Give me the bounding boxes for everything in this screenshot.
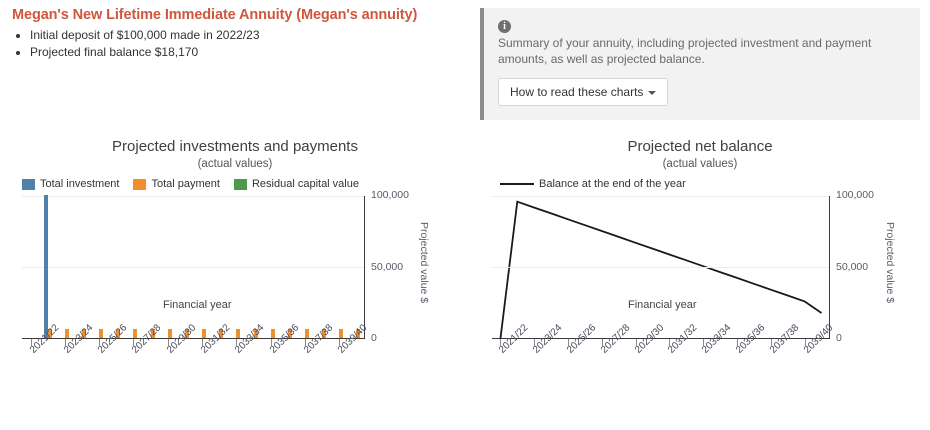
bar[interactable] bbox=[305, 329, 309, 338]
x-axis-tick-labels: 2021/222023/242025/262027/282029/302031/… bbox=[22, 346, 365, 388]
legend-swatch-icon bbox=[234, 179, 247, 190]
info-panel-text: Summary of your annuity, including proje… bbox=[498, 35, 900, 67]
y-axis-tick-label: 0 bbox=[371, 332, 377, 344]
legend-item-residual-capital-value[interactable]: Residual capital value bbox=[234, 178, 359, 190]
list-item: Initial deposit of $100,000 made in 2022… bbox=[30, 27, 470, 44]
left-column: Megan's New Lifetime Immediate Annuity (… bbox=[0, 0, 470, 430]
x-axis-label: Financial year bbox=[628, 299, 696, 311]
right-column: i Summary of your annuity, including pro… bbox=[470, 0, 930, 430]
plot-area[interactable] bbox=[492, 196, 830, 339]
how-to-read-these-charts-button[interactable]: How to read these charts bbox=[498, 78, 668, 106]
x-axis-tick-labels: 2021/222023/242025/262027/282029/302031/… bbox=[492, 346, 830, 388]
line-path bbox=[500, 202, 821, 339]
y-axis-tick-label: 50,000 bbox=[371, 261, 403, 273]
chart-title: Projected net balance bbox=[470, 138, 930, 155]
chart-title: Projected investments and payments bbox=[0, 138, 470, 155]
bar-series-group bbox=[22, 196, 364, 338]
legend-swatch-icon bbox=[22, 179, 35, 190]
bar[interactable] bbox=[133, 329, 137, 338]
chart-net-balance: Projected net balance (actual values) Ba… bbox=[470, 138, 930, 339]
bar[interactable] bbox=[202, 329, 206, 338]
y-axis-label: Projected value $ bbox=[418, 222, 430, 303]
y-axis-tick-label: 100,000 bbox=[836, 189, 874, 201]
bar[interactable] bbox=[65, 329, 69, 338]
plot-area-wrapper: 050,000100,000 Projected value $ 2021/22… bbox=[0, 196, 470, 339]
chart-investments-payments: Projected investments and payments (actu… bbox=[0, 138, 470, 339]
summary-bullet-list: Initial deposit of $100,000 made in 2022… bbox=[0, 27, 470, 61]
legend-item-total-investment[interactable]: Total investment bbox=[22, 178, 119, 190]
plot-area[interactable] bbox=[22, 196, 365, 339]
bar[interactable] bbox=[44, 195, 48, 338]
info-icon: i bbox=[498, 20, 511, 33]
chevron-down-icon bbox=[648, 91, 656, 95]
y-axis-tick-label: 50,000 bbox=[836, 261, 868, 273]
page-title: Megan's New Lifetime Immediate Annuity (… bbox=[12, 7, 470, 23]
button-label: How to read these charts bbox=[510, 85, 643, 99]
chart-subtitle: (actual values) bbox=[0, 158, 470, 170]
legend-label: Residual capital value bbox=[252, 178, 359, 190]
plot-area-wrapper: 050,000100,000 Projected value $ 2021/22… bbox=[470, 196, 930, 339]
bar[interactable] bbox=[339, 329, 343, 338]
bar[interactable] bbox=[271, 329, 275, 338]
chart-subtitle: (actual values) bbox=[470, 158, 930, 170]
bar[interactable] bbox=[168, 329, 172, 338]
legend-label: Balance at the end of the year bbox=[539, 178, 686, 190]
bar[interactable] bbox=[236, 329, 240, 338]
legend-label: Total payment bbox=[151, 178, 219, 190]
y-axis-tick-label: 100,000 bbox=[371, 189, 409, 201]
info-panel: i Summary of your annuity, including pro… bbox=[480, 8, 920, 120]
y-axis-label: Projected value $ bbox=[884, 222, 896, 303]
y-axis-tick-label: 0 bbox=[836, 332, 842, 344]
bar[interactable] bbox=[99, 329, 103, 338]
annuity-summary-page: Megan's New Lifetime Immediate Annuity (… bbox=[0, 0, 930, 430]
gridline bbox=[492, 267, 829, 268]
legend-label: Total investment bbox=[40, 178, 119, 190]
legend-item-total-payment[interactable]: Total payment bbox=[133, 178, 219, 190]
gridline bbox=[492, 196, 829, 197]
x-axis-label: Financial year bbox=[163, 299, 231, 311]
legend-line-icon bbox=[500, 183, 534, 185]
legend-swatch-icon bbox=[133, 179, 146, 190]
legend-item-balance-end-of-year[interactable]: Balance at the end of the year bbox=[500, 178, 686, 190]
list-item: Projected final balance $18,170 bbox=[30, 44, 470, 61]
